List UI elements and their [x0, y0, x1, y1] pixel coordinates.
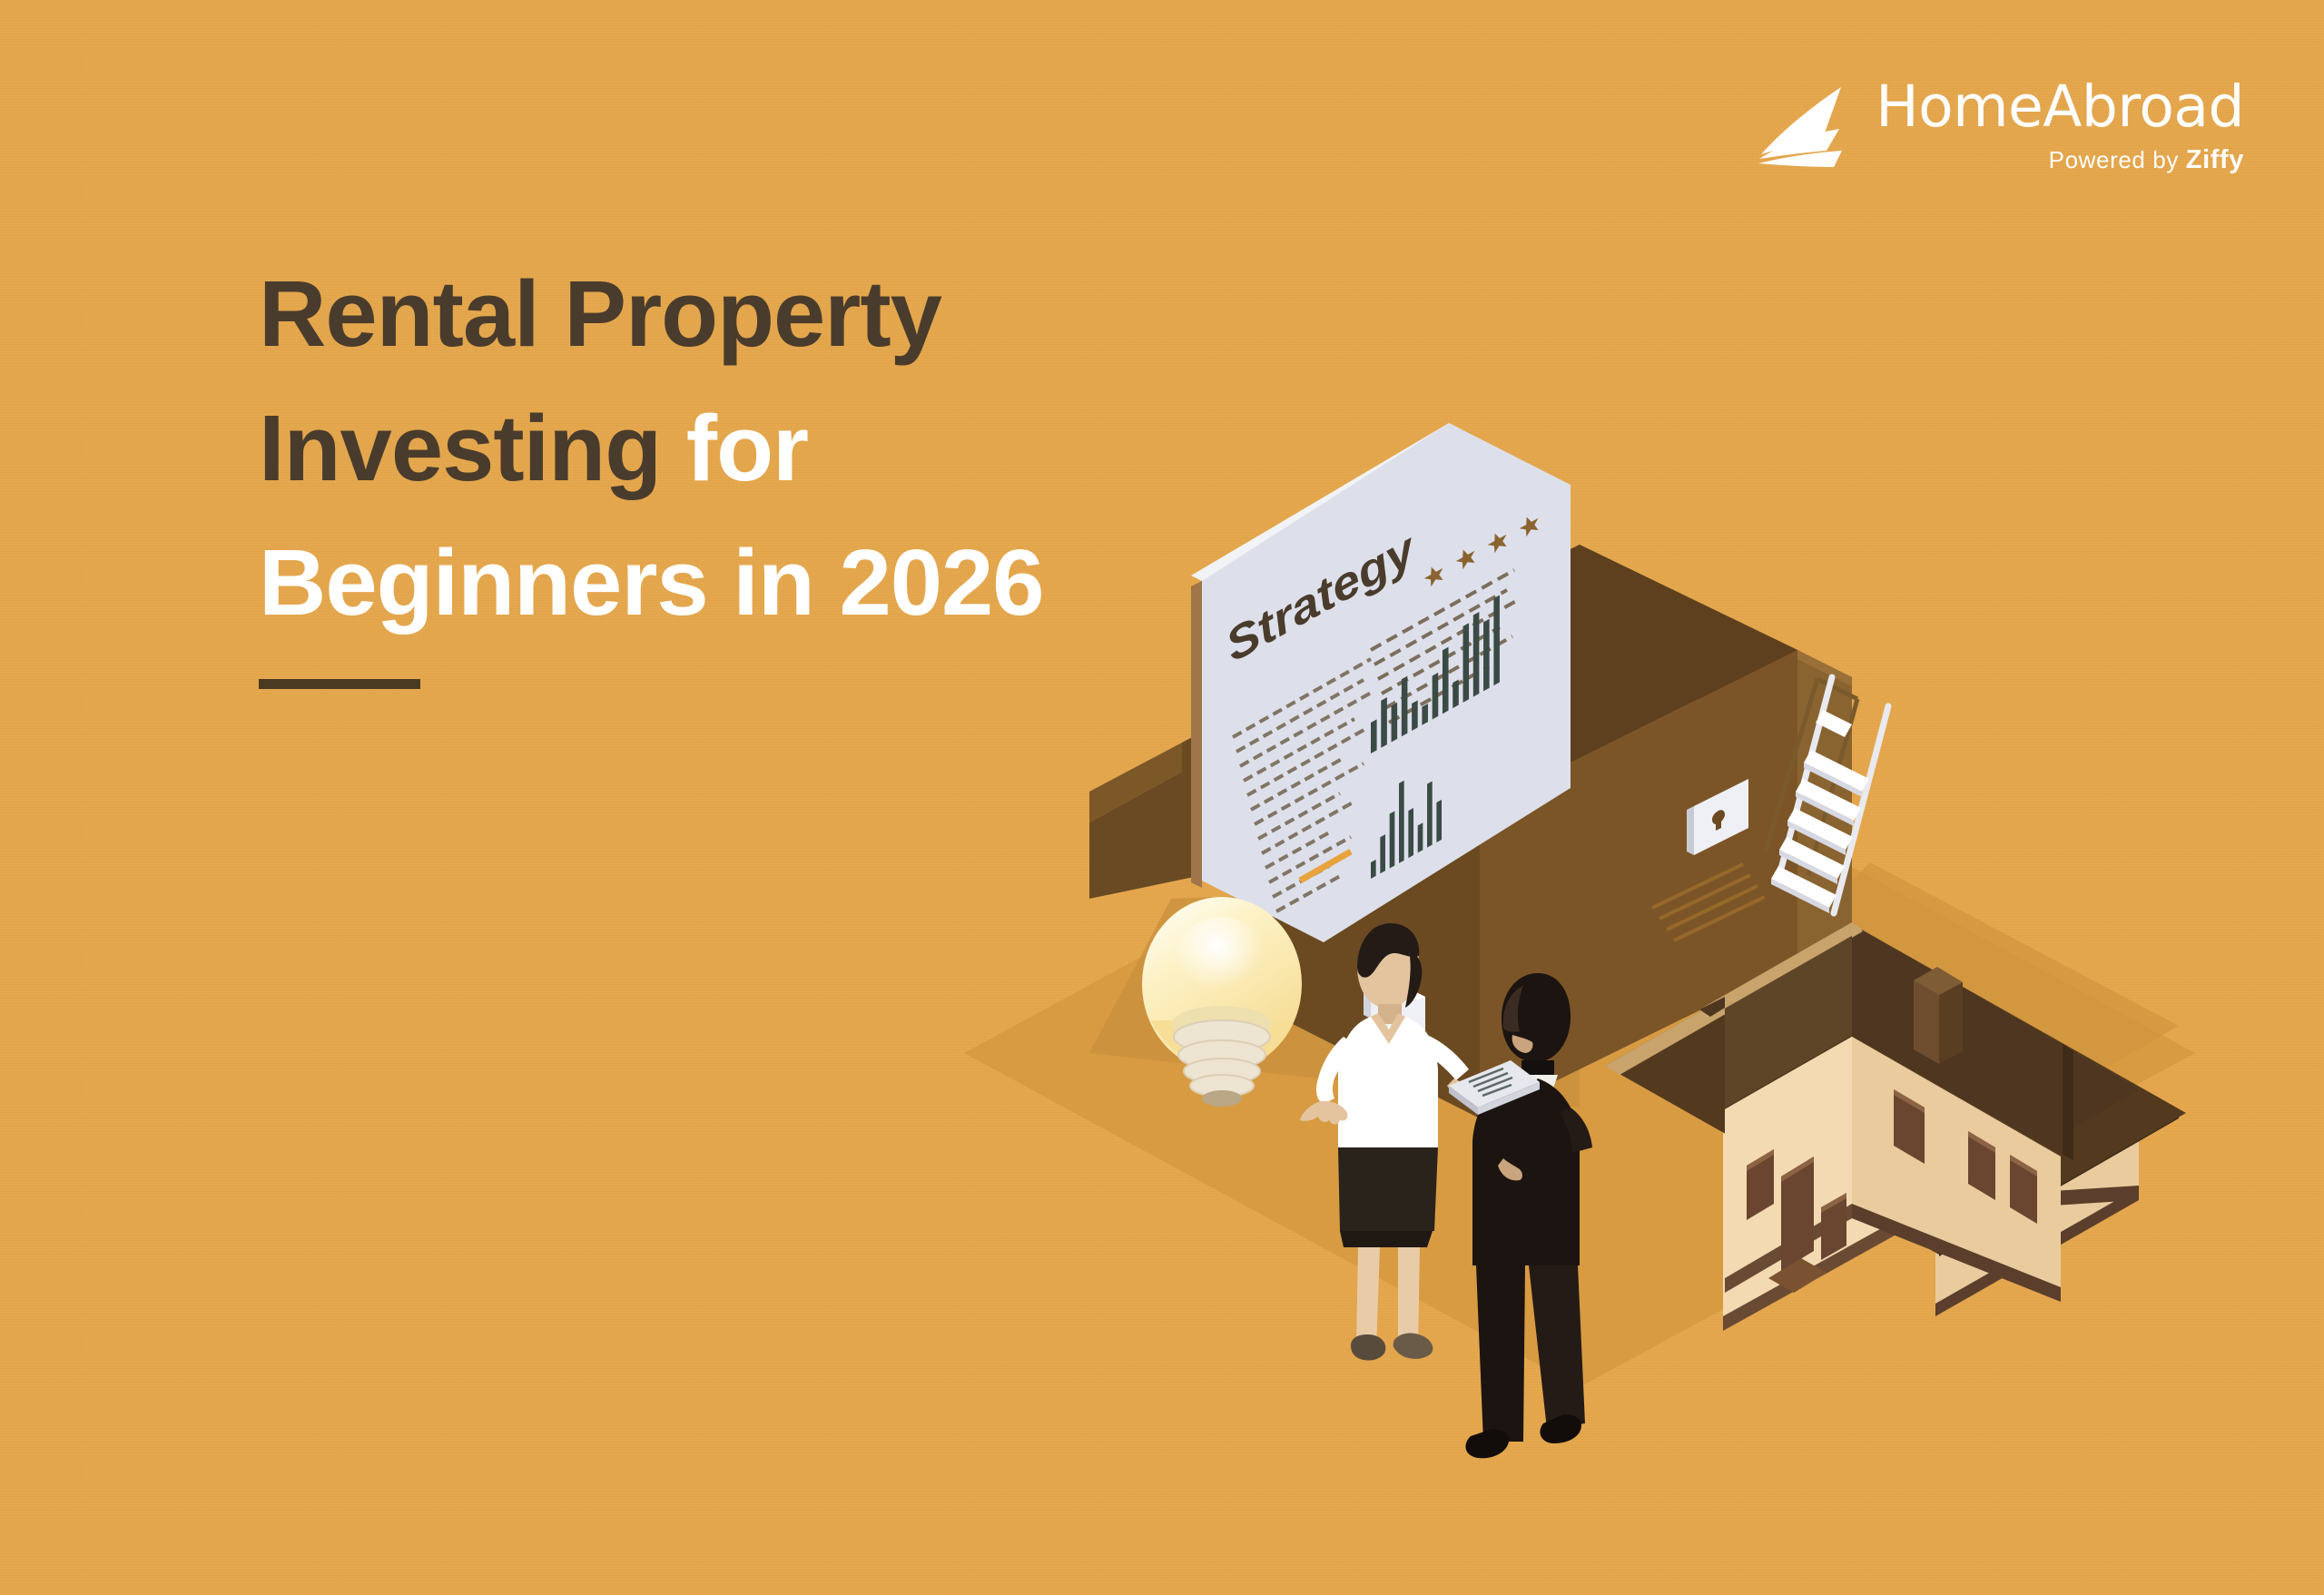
paper-plane-logo-icon — [1758, 85, 1852, 169]
poster-canvas: HomeAbroad Powered by Ziffy Rental Prope… — [0, 0, 2324, 1595]
powered-by-prefix: Powered by — [2049, 146, 2186, 173]
isometric-scene-svg: Strategy — [944, 472, 2233, 1434]
title-line-2-dark: Investing — [259, 396, 661, 500]
brand-logo[interactable]: HomeAbroad Powered by Ziffy — [1758, 78, 2244, 175]
title-underline-rule — [259, 679, 420, 689]
powered-by-line: Powered by Ziffy — [2049, 145, 2244, 175]
title-line-1: Rental Property — [259, 247, 1330, 381]
title-line-2-light: for — [686, 396, 808, 500]
illustration: Strategy — [944, 472, 2233, 1434]
powered-by-brand: Ziffy — [2186, 145, 2244, 174]
logo-wordmark: HomeAbroad Powered by Ziffy — [1876, 78, 2244, 175]
chimney-top — [1914, 967, 1963, 1064]
brand-name: HomeAbroad — [1876, 78, 2244, 135]
